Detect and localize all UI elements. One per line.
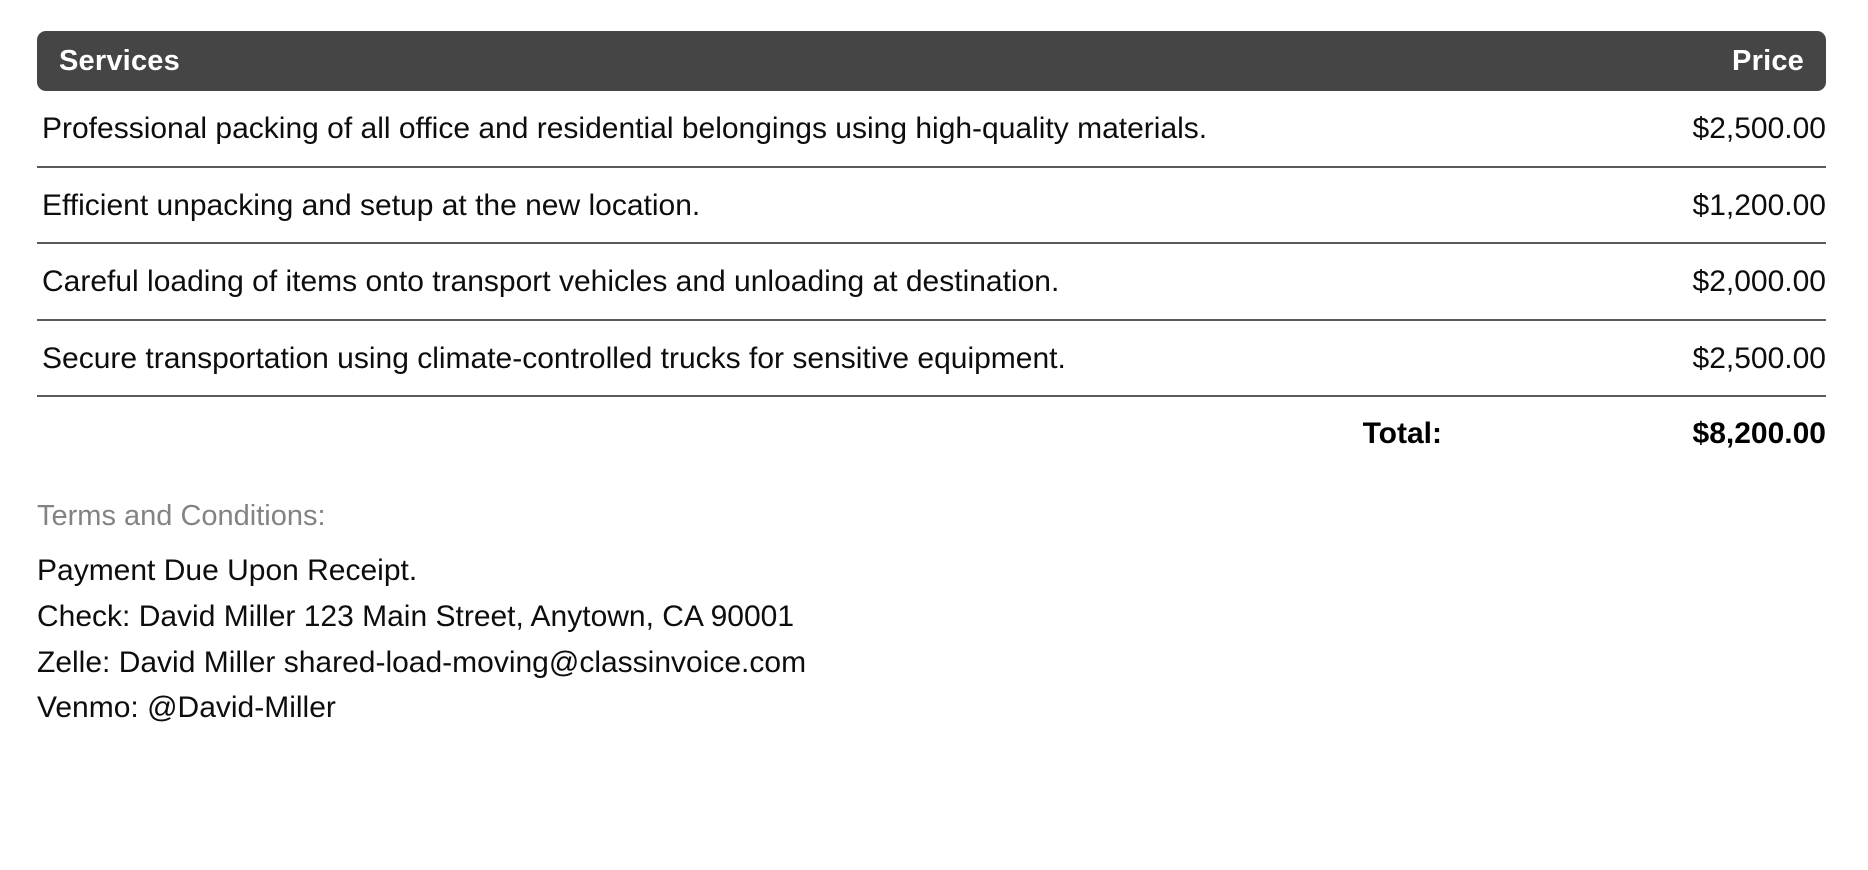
- table-body: Professional packing of all office and r…: [37, 91, 1826, 451]
- service-price: $2,000.00: [1496, 244, 1826, 321]
- table-row: Professional packing of all office and r…: [37, 91, 1826, 168]
- service-price: $1,200.00: [1496, 168, 1826, 245]
- service-price: $2,500.00: [1496, 91, 1826, 168]
- service-description: Secure transportation using climate-cont…: [37, 321, 1496, 398]
- total-value: $8,200.00: [1496, 397, 1826, 451]
- terms-heading: Terms and Conditions:: [37, 502, 1826, 531]
- services-price-table: Services Price Professional packing of a…: [37, 31, 1826, 451]
- column-header-price: Price: [1496, 31, 1826, 91]
- service-description: Careful loading of items onto transport …: [37, 244, 1496, 321]
- terms-line-venmo: Venmo: @David-Miller: [37, 685, 1826, 731]
- service-description: Professional packing of all office and r…: [37, 91, 1496, 168]
- table-header-row: Services Price: [37, 31, 1826, 91]
- total-label: Total:: [37, 397, 1496, 451]
- terms-line-zelle: Zelle: David Miller shared-load-moving@c…: [37, 640, 1826, 686]
- invoice-sheet: Services Price Professional packing of a…: [0, 0, 1868, 870]
- table-row: Careful loading of items onto transport …: [37, 244, 1826, 321]
- table-header: Services Price: [37, 31, 1826, 91]
- table-row: Secure transportation using climate-cont…: [37, 321, 1826, 398]
- terms-line-payment-due: Payment Due Upon Receipt.: [37, 548, 1826, 594]
- service-description: Efficient unpacking and setup at the new…: [37, 168, 1496, 245]
- terms-and-conditions-section: Terms and Conditions: Payment Due Upon R…: [37, 502, 1826, 730]
- table-row: Efficient unpacking and setup at the new…: [37, 168, 1826, 245]
- total-row: Total: $8,200.00: [37, 397, 1826, 451]
- terms-line-check: Check: David Miller 123 Main Street, Any…: [37, 594, 1826, 640]
- column-header-services: Services: [37, 31, 1496, 91]
- service-price: $2,500.00: [1496, 321, 1826, 398]
